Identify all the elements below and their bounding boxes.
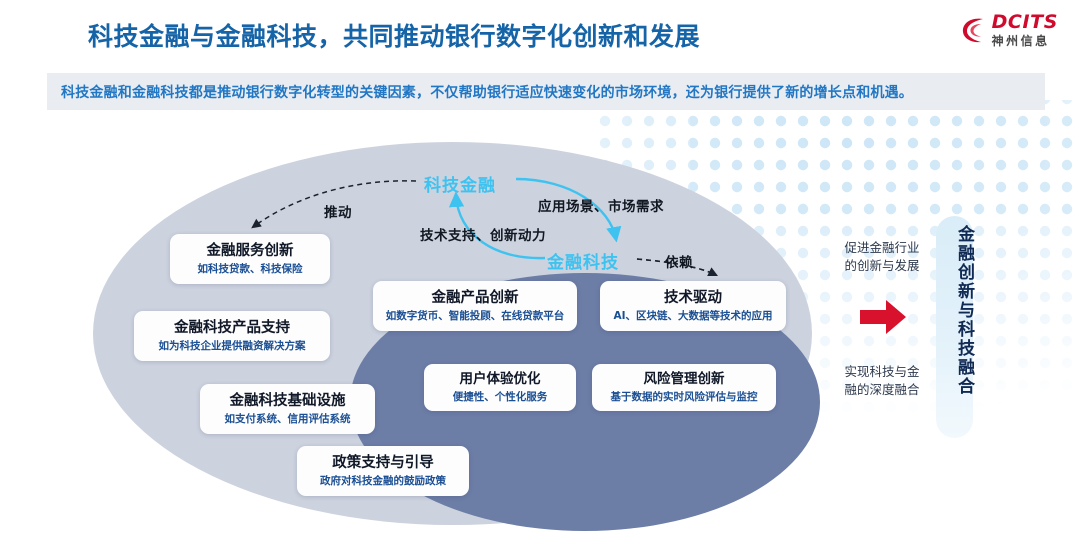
card-title: 政策支持与引导 <box>332 454 434 472</box>
connector-label-tuidong: 推动 <box>324 201 352 221</box>
logo-chinese-name: 神州信息 <box>992 35 1058 47</box>
node-label-keji-jinrong: 科技金融 <box>424 171 496 196</box>
card-financial-service-innovation[interactable]: 金融服务创新 如科技贷款、科技保险 <box>170 234 330 284</box>
card-fintech-product-support[interactable]: 金融科技产品支持 如为科技企业提供融资解决方案 <box>134 311 330 361</box>
card-subtitle: 如数字货币、智能投顾、在线贷款平台 <box>386 310 565 324</box>
card-financial-product-innovation[interactable]: 金融产品创新 如数字货币、智能投顾、在线贷款平台 <box>373 281 577 331</box>
page-title: 科技金融与金融科技，共同推动银行数字化创新和发展 <box>88 17 700 53</box>
card-subtitle: 政府对科技金融的鼓励政策 <box>320 475 446 489</box>
card-policy-support[interactable]: 政策支持与引导 政府对科技金融的鼓励政策 <box>297 446 469 496</box>
card-subtitle: 如支付系统、信用评估系统 <box>225 413 351 427</box>
dcits-swoosh-icon <box>961 15 987 45</box>
subtitle-text: 科技金融和金融科技都是推动银行数字化转型的关键因素，不仅帮助银行适应快速变化的市… <box>47 82 913 102</box>
card-risk-management-innovation[interactable]: 风险管理创新 基于数据的实时风险评估与监控 <box>592 364 776 411</box>
card-subtitle: 如科技贷款、科技保险 <box>198 263 303 277</box>
page-header: 科技金融与金融科技，共同推动银行数字化创新和发展 DCITS 神州信息 <box>0 0 1080 62</box>
card-title: 金融科技基础设施 <box>230 392 346 410</box>
logo-wordmark: DCITS <box>992 13 1058 32</box>
card-user-experience-optimization[interactable]: 用户体验优化 便捷性、个性化服务 <box>424 364 576 411</box>
card-title: 金融科技产品支持 <box>174 319 290 337</box>
card-fintech-infrastructure[interactable]: 金融科技基础设施 如支付系统、信用评估系统 <box>200 384 375 434</box>
outcome-note-bottom: 实现科技与金 融的深度融合 <box>838 363 926 399</box>
connector-label-depend: 依赖 <box>665 251 693 271</box>
outcome-note-top: 促进金融行业 的创新与发展 <box>838 239 926 275</box>
venn-diagram: 科技金融 金融科技 推动 应用场景、市场需求 技术支持、创新动力 依赖 金融服务… <box>0 115 1080 540</box>
card-subtitle: AI、区块链、大数据等技术的应用 <box>613 310 772 324</box>
card-subtitle: 如为科技企业提供融资解决方案 <box>159 340 306 354</box>
card-title: 技术驱动 <box>664 289 722 307</box>
node-label-jinrong-keji: 金融科技 <box>547 248 619 273</box>
connector-label-support: 技术支持、创新动力 <box>420 224 546 244</box>
subtitle-banner: 科技金融和金融科技都是推动银行数字化转型的关键因素，不仅帮助银行适应快速变化的市… <box>47 73 1045 110</box>
card-title: 用户体验优化 <box>460 371 541 388</box>
right-arrow-icon <box>858 297 908 337</box>
card-title: 金融产品创新 <box>432 289 519 307</box>
connector-label-scene: 应用场景、市场需求 <box>538 195 664 215</box>
outcome-panel: 促进金融行业 的创新与发展 实现科技与金 融的深度融合 金融创新与科技融合 <box>826 115 1080 540</box>
card-subtitle: 基于数据的实时风险评估与监控 <box>611 391 758 405</box>
brand-logo: DCITS 神州信息 <box>961 13 1058 47</box>
vertical-outcome-label: 金融创新与科技融合 <box>938 225 972 396</box>
card-title: 风险管理创新 <box>644 371 725 388</box>
card-subtitle: 便捷性、个性化服务 <box>453 391 548 405</box>
card-technology-driven[interactable]: 技术驱动 AI、区块链、大数据等技术的应用 <box>600 281 786 331</box>
card-title: 金融服务创新 <box>207 242 294 260</box>
